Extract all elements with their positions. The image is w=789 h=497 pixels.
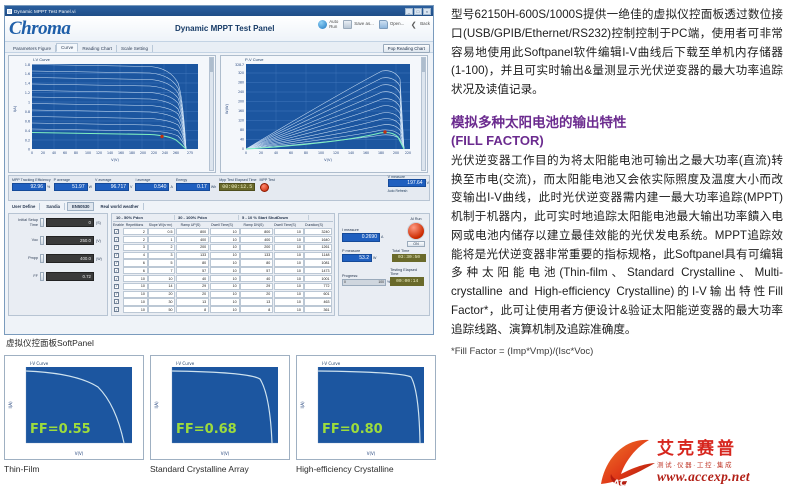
- svg-text:1: 1: [28, 101, 30, 105]
- save-as-button[interactable]: Save as...: [343, 20, 374, 29]
- initial-setup-time-slider[interactable]: [40, 218, 44, 227]
- svg-text:240: 240: [162, 151, 168, 155]
- accexp-logo: ACCEXP 艾克赛普 测试·仪器·工控·集成 www.accexp.net: [595, 430, 785, 492]
- svg-text:100: 100: [85, 151, 91, 155]
- svg-text:I(A): I(A): [8, 401, 13, 408]
- page-title: Dynamic MPPT Test Panel: [175, 24, 274, 33]
- accexp-url: www.accexp.net: [657, 469, 750, 485]
- svg-text:160: 160: [363, 151, 369, 155]
- metric-mpp-elapsed-time: Mpp Test Elapsed Time 00:00:12.5: [219, 178, 256, 191]
- svg-text:0.8: 0.8: [25, 110, 30, 114]
- svg-text:V(V): V(V): [221, 451, 230, 456]
- ff-chart-high-efficiency: FF=0.80 I-V Curve V(V) I(A): [296, 355, 436, 460]
- group-header-1: 10 - 50% Pdcn: [113, 215, 175, 220]
- svg-text:1.6: 1.6: [25, 72, 30, 76]
- toolbar: Auto Run Save as... Open... ❮ Bac: [318, 20, 430, 29]
- save-as-label: Save as...: [354, 22, 374, 27]
- param-initial-setup-time: Initial Setup Time 0 (S): [12, 218, 104, 227]
- p-measure-value: 53.2: [342, 254, 372, 263]
- voc-slider[interactable]: [40, 236, 44, 245]
- svg-text:200: 200: [393, 151, 399, 155]
- softpanel-caption: 虚拟仪控面板SoftPanel: [6, 337, 94, 349]
- svg-text:0.2: 0.2: [25, 139, 30, 143]
- save-icon: [343, 20, 352, 29]
- row-enable-checkbox[interactable]: ✓: [114, 292, 119, 297]
- metrics-bar: MPP Tracking Efficiency 92.96 % P averag…: [8, 175, 430, 201]
- row-enable-checkbox[interactable]: ✓: [114, 284, 119, 289]
- svg-text:I(A): I(A): [154, 401, 159, 408]
- open-button[interactable]: Open...: [379, 20, 404, 29]
- svg-text:V(V): V(V): [324, 158, 332, 162]
- svg-text:I(A): I(A): [13, 105, 17, 112]
- svg-text:0.4: 0.4: [25, 129, 30, 133]
- svg-text:I-V Curve: I-V Curve: [322, 361, 341, 366]
- profile-table[interactable]: 10 - 50% Pdcn 30 - 100% Pdcn 5 - 10 % St…: [111, 213, 335, 316]
- lower-section: Initial Setup Time 0 (S) Voc 250.0 (V): [8, 213, 430, 316]
- metric-mpp-tracking-efficiency: MPP Tracking Efficiency 92.96 %: [12, 178, 51, 191]
- p-average-value: 51.97: [54, 183, 88, 191]
- svg-text:W(W): W(W): [225, 103, 229, 114]
- svg-text:160: 160: [118, 151, 124, 155]
- row-enable-checkbox[interactable]: ✓: [114, 229, 119, 234]
- svg-text:80: 80: [240, 128, 244, 132]
- iv-operating-point: [160, 135, 163, 138]
- elapsed-time-value: 00:00:14: [390, 277, 424, 286]
- pv-chart-scrollbar[interactable]: [421, 57, 426, 171]
- svg-text:80: 80: [304, 151, 308, 155]
- ff-chart-standard-wrapper: FF=0.68 I-V Curve V(V) I(A) Standard Cry…: [150, 355, 290, 474]
- svg-text:40: 40: [240, 138, 244, 142]
- article-column: 型号62150H-600S/1000S提供一绝佳的虚拟仪控面板透过数位接口(US…: [445, 0, 789, 494]
- maximize-button[interactable]: □: [414, 8, 422, 15]
- ai-run-control[interactable]: AI Run ON: [407, 217, 425, 247]
- tab-scale-setting[interactable]: Scale Setting: [117, 45, 153, 52]
- ff-chart-thin-film-wrapper: FF=0.55 I-V Curve V(V) I(A) Thin-Film: [4, 355, 144, 474]
- panel-body: I-V Curve: [5, 53, 433, 334]
- svg-text:200: 200: [140, 151, 146, 155]
- metric-mpp-test-indicator: MPP Test: [260, 178, 275, 192]
- svg-text:I(A): I(A): [300, 401, 305, 408]
- row-enable-checkbox[interactable]: ✓: [114, 299, 119, 304]
- mpp-test-led-icon: [260, 183, 269, 192]
- page-root: Dynamic MPPT Test Panel.vi _ □ × Chroma …: [0, 0, 789, 494]
- window-controls: _ □ ×: [405, 8, 431, 15]
- svg-text:140: 140: [107, 151, 113, 155]
- row-enable-checkbox[interactable]: ✓: [114, 253, 119, 258]
- total-time-value: 03:30:50: [392, 254, 426, 263]
- svg-text:120: 120: [238, 119, 244, 123]
- table-row[interactable]: ✓ 6 7 57 10 57 10 1473: [113, 267, 333, 275]
- folder-icon: [379, 20, 388, 29]
- table-row[interactable]: ✓ 3 2 200 10 200 10 1261: [113, 244, 333, 252]
- svg-text:0: 0: [28, 148, 30, 152]
- initial-setup-time-input[interactable]: 0: [46, 218, 94, 227]
- measurement-panel: AI Run ON I measure 0.2690 A: [338, 213, 430, 316]
- accexp-name-cn: 艾克赛普: [657, 434, 750, 459]
- table-row[interactable]: ✓ 2 1 400 10 400 10 1640: [113, 236, 333, 244]
- tab-bar: Parameters Figure Curve Reading Chart Sc…: [5, 42, 433, 53]
- play-icon: [318, 20, 327, 29]
- svg-text:320: 320: [238, 71, 244, 75]
- ff-plot-3: FF=0.80 I-V Curve V(V) I(A): [298, 357, 434, 458]
- table-row[interactable]: ✓ 4 3 133 10 133 10 1148: [113, 251, 333, 259]
- metric-energy: Energy 0.17 Wh: [176, 178, 216, 191]
- table-row[interactable]: ✓ 10 30 13 10 13 10 463: [113, 298, 333, 306]
- pv-operating-point: [383, 130, 386, 133]
- svg-text:180: 180: [378, 151, 384, 155]
- auto-run-label-2: Run: [329, 25, 338, 30]
- svg-text:328.7: 328.7: [235, 63, 244, 67]
- open-label: Open...: [390, 22, 404, 27]
- svg-text:220: 220: [151, 151, 157, 155]
- row-enable-checkbox[interactable]: ✓: [114, 268, 119, 273]
- ff-chart-high-eff-wrapper: FF=0.80 I-V Curve V(V) I(A) High-efficie…: [296, 355, 436, 474]
- parameters-panel: Initial Setup Time 0 (S) Voc 250.0 (V): [8, 213, 108, 316]
- p-measure-row: P measure 53.2 W Total Time 03:30:50: [342, 249, 426, 263]
- window-titlebar: Dynamic MPPT Test Panel.vi _ □ ×: [5, 6, 433, 16]
- article-heading-en: (FILL FACTOR): [451, 133, 783, 148]
- table-row[interactable]: ✓ 6 5 80 10 80 10 1081: [113, 259, 333, 267]
- table-row[interactable]: ✓ 2 0.5 800 10 800 10 3240: [113, 228, 333, 236]
- svg-text:1.2: 1.2: [25, 91, 30, 95]
- article-footnote: *Fill Factor = (Imp*Vmp)/(Isc*Voc): [451, 346, 783, 357]
- ff-plot-2: FF=0.68 I-V Curve V(V) I(A): [152, 357, 288, 458]
- auto-refresh-label[interactable]: Auto Refresh: [388, 189, 429, 193]
- ai-run-on-button[interactable]: ON: [407, 241, 425, 247]
- iv-chart-title: I-V Curve: [33, 57, 50, 62]
- total-time-group: Total Time 03:30:50: [392, 249, 426, 263]
- param-voc: Voc 250.0 (V): [12, 236, 104, 245]
- i-measure-value: 0.2690: [342, 233, 380, 242]
- svg-text:275: 275: [187, 151, 193, 155]
- svg-text:1.8: 1.8: [25, 63, 30, 67]
- v-measure-group: V measure 197.64 V Auto Refresh: [388, 175, 429, 193]
- progress-bar: 0100: [342, 279, 386, 286]
- svg-text:1.4: 1.4: [25, 82, 30, 86]
- ff-plot-1: FF=0.55 I-V Curve V(V) I(A): [6, 357, 142, 458]
- softpanel-window: Dynamic MPPT Test Panel.vi _ □ × Chroma …: [4, 5, 434, 335]
- row-enable-checkbox[interactable]: ✓: [114, 307, 119, 312]
- param-ff: FF 0.72: [12, 272, 104, 281]
- group-header-2: 30 - 100% Pdcn: [175, 215, 239, 220]
- table-group-headers: 10 - 50% Pdcn 30 - 100% Pdcn 5 - 10 % St…: [113, 215, 333, 222]
- ff-chart-thin-film: FF=0.55 I-V Curve V(V) I(A): [4, 355, 144, 460]
- article-heading-cn: 模拟多种太阳电池的输出特性: [451, 114, 783, 133]
- svg-text:180: 180: [129, 151, 135, 155]
- ff-caption-thin-film: Thin-Film: [4, 464, 144, 474]
- i-average-value: 0.540: [135, 183, 169, 191]
- v-measure-value: 197.64: [388, 179, 426, 187]
- svg-text:160: 160: [238, 109, 244, 113]
- tab-reading-chart[interactable]: Reading Chart: [78, 45, 117, 52]
- accexp-tagline: 测试·仪器·工控·集成: [657, 459, 750, 469]
- svg-text:220: 220: [405, 151, 411, 155]
- pv-curve-chart[interactable]: P-V Curve: [220, 55, 428, 173]
- ai-run-knob-icon[interactable]: [407, 222, 425, 240]
- elapsed-time-group: Testing Elapsed Time 00:00:14: [390, 268, 426, 286]
- ff-chart-standard-crystalline: FF=0.68 I-V Curve V(V) I(A): [150, 355, 290, 460]
- app-icon: [7, 9, 12, 14]
- row-enable-checkbox[interactable]: ✓: [114, 237, 119, 242]
- back-arrow-icon: ❮: [409, 20, 418, 29]
- svg-text:60: 60: [63, 151, 67, 155]
- iv-curve-chart[interactable]: I-V Curve: [8, 55, 216, 173]
- ff-slider[interactable]: [40, 272, 44, 281]
- ff-value-2: FF=0.68: [176, 422, 237, 437]
- progress-row: Progress: 0100 % Testing Elapsed Time: [342, 268, 426, 286]
- svg-text:I-V Curve: I-V Curve: [30, 361, 49, 366]
- table-row[interactable]: ✓ 10 14 29 10 29 10 772: [113, 282, 333, 290]
- softpanel-screenshot-column: Dynamic MPPT Test Panel.vi _ □ × Chroma …: [0, 0, 440, 494]
- svg-text:120: 120: [96, 151, 102, 155]
- iv-plot: 0 0.2 0.4 0.6 0.8 1 1.2 1.4 1.6 1.8: [10, 57, 210, 171]
- svg-text:V(V): V(V): [111, 158, 119, 162]
- ff-value-1: FF=0.55: [30, 422, 91, 437]
- row-enable-checkbox[interactable]: ✓: [114, 245, 119, 250]
- ff-value-3: FF=0.80: [322, 422, 383, 437]
- mode-button-bar: User Define Sandia EN50530 Real world we…: [8, 202, 430, 211]
- metric-i-average: I average 0.540 A: [135, 178, 172, 191]
- svg-text:0.6: 0.6: [25, 120, 30, 124]
- svg-text:100: 100: [318, 151, 324, 155]
- back-label: Back: [420, 22, 430, 27]
- svg-text:120: 120: [333, 151, 339, 155]
- svg-text:20: 20: [41, 151, 45, 155]
- svg-text:V(V): V(V): [367, 451, 376, 456]
- mode-user-define[interactable]: User Define: [8, 203, 40, 210]
- tab-parameters-figure[interactable]: Parameters Figure: [9, 45, 56, 52]
- table-body: ✓ 2 0.5 800 10 800 10 3240 ✓: [113, 228, 333, 314]
- minimize-button[interactable]: _: [405, 8, 413, 15]
- svg-text:40: 40: [274, 151, 278, 155]
- table-row[interactable]: ✓ 10 50 8 10 8 10 361: [113, 306, 333, 314]
- svg-text:ACCEXP: ACCEXP: [612, 479, 653, 489]
- voc-input[interactable]: 250.0: [46, 236, 94, 245]
- fill-factor-charts: FF=0.55 I-V Curve V(V) I(A) Thin-Film: [4, 355, 436, 474]
- svg-text:80: 80: [74, 151, 78, 155]
- svg-text:0: 0: [245, 151, 247, 155]
- iv-chart-scrollbar[interactable]: [209, 57, 214, 171]
- ff-caption-high-efficiency: High-efficiency Crystalline: [296, 464, 436, 474]
- table-row[interactable]: ✓ 10 10 40 10 40 10 1001: [113, 275, 333, 283]
- pop-reading-chart-button[interactable]: Pop Reading Chart: [383, 44, 430, 53]
- mpp-elapsed-time-value: 00:00:12.5: [219, 183, 255, 191]
- close-button[interactable]: ×: [423, 8, 431, 15]
- mode-en50530[interactable]: EN50530: [67, 202, 94, 211]
- window-title: Dynamic MPPT Test Panel.vi: [14, 9, 405, 14]
- svg-text:260: 260: [173, 151, 179, 155]
- article-body: 光伏逆变器工作目的为将太阳能电池可输出之最大功率(直流)转换至市电(交流)，而太…: [451, 152, 783, 340]
- charts-row: I-V Curve: [8, 55, 430, 173]
- mode-sandia[interactable]: Sandia: [42, 203, 65, 210]
- tab-curve[interactable]: Curve: [56, 43, 78, 52]
- svg-text:140: 140: [348, 151, 354, 155]
- row-enable-checkbox[interactable]: ✓: [114, 276, 119, 281]
- group-header-3: 5 - 10 % Start ShutDown: [239, 215, 309, 220]
- metric-p-average: P average 51.97 W: [54, 178, 92, 191]
- svg-text:240: 240: [238, 90, 244, 94]
- svg-text:280: 280: [238, 81, 244, 85]
- svg-text:20: 20: [259, 151, 263, 155]
- chroma-logo: Chroma: [9, 19, 70, 38]
- svg-text:I-V Curve: I-V Curve: [176, 361, 195, 366]
- svg-text:0: 0: [242, 147, 244, 151]
- row-enable-checkbox[interactable]: ✓: [114, 261, 119, 266]
- svg-text:200: 200: [238, 100, 244, 104]
- back-button[interactable]: ❮ Back: [409, 20, 430, 29]
- pv-chart-title: P-V Curve: [245, 57, 263, 62]
- mpp-efficiency-value: 92.96: [12, 183, 46, 191]
- metric-v-average: V average 96.717 V: [95, 178, 132, 191]
- article-intro: 型号62150H-600S/1000S提供一绝佳的虚拟仪控面板透过数位接口(US…: [451, 6, 783, 100]
- svg-text:60: 60: [289, 151, 293, 155]
- pv-plot: 328.7 320 280 240 200 160 120 80 40 0: [222, 57, 422, 171]
- ff-caption-standard-crystalline: Standard Crystalline Array: [150, 464, 290, 474]
- p-measure-group: P measure 53.2 W: [342, 249, 376, 263]
- brand-bar: Chroma Dynamic MPPT Test Panel Auto Run …: [5, 16, 433, 42]
- param-pmpp: Pmpp 400.0 (W): [12, 254, 104, 263]
- auto-run-button[interactable]: Auto Run: [318, 20, 338, 29]
- table-row[interactable]: ✓ 10 20 20 10 20 10 601: [113, 290, 333, 298]
- v-average-value: 96.717: [95, 183, 129, 191]
- svg-text:V(V): V(V): [75, 451, 84, 456]
- svg-text:40: 40: [52, 151, 56, 155]
- energy-value: 0.17: [176, 183, 210, 191]
- ff-input[interactable]: 0.72: [46, 272, 94, 281]
- svg-text:0: 0: [31, 151, 33, 155]
- pmpp-input[interactable]: 400.0: [46, 254, 94, 263]
- pmpp-slider[interactable]: [40, 254, 44, 263]
- progress-group: Progress: 0100 %: [342, 274, 390, 286]
- mode-real-world-weather[interactable]: Real world weather: [96, 203, 143, 210]
